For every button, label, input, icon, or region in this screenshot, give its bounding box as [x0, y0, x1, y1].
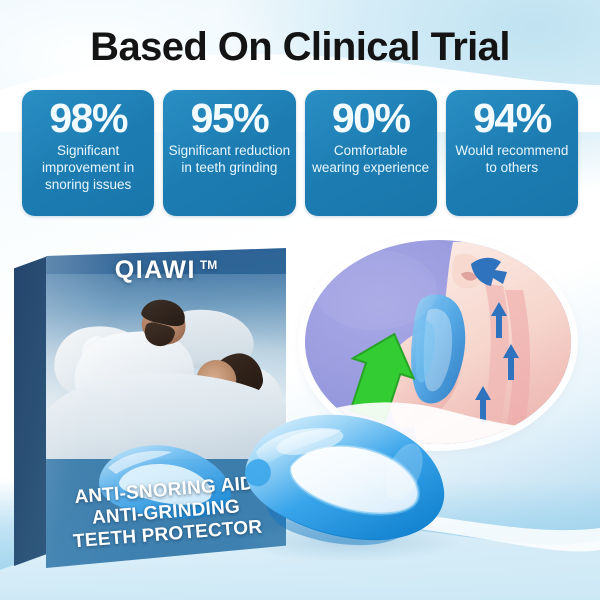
trademark-symbol: TM	[200, 258, 217, 272]
stat-value: 90%	[332, 95, 410, 141]
package-side-panel	[14, 256, 48, 566]
page-title: Based On Clinical Trial	[0, 24, 600, 70]
package-brand: QIAWITM	[46, 256, 286, 285]
stat-card-recommend: 94% Would recommend to others	[446, 90, 578, 216]
stat-value: 95%	[191, 95, 269, 141]
stat-label: Significant improvement in snoring issue…	[22, 142, 154, 193]
stat-label: Would recommend to others	[446, 142, 578, 176]
product-marketing-poster: Based On Clinical Trial 98% Significant …	[0, 0, 600, 600]
stat-card-comfort: 90% Comfortable wearing experience	[305, 90, 437, 216]
mouthguard-product	[232, 398, 456, 566]
stat-card-grinding: 95% Significant reduction in teeth grind…	[163, 90, 295, 216]
brand-name: QIAWI	[115, 256, 196, 284]
stat-label: Significant reduction in teeth grinding	[163, 142, 295, 176]
stat-card-snoring: 98% Significant improvement in snoring i…	[22, 90, 154, 216]
stat-label: Comfortable wearing experience	[305, 142, 437, 176]
stat-value: 94%	[473, 95, 551, 141]
stat-value: 98%	[49, 95, 127, 141]
clinical-stats-row: 98% Significant improvement in snoring i…	[22, 90, 578, 216]
mouthguard-svg	[232, 398, 456, 566]
